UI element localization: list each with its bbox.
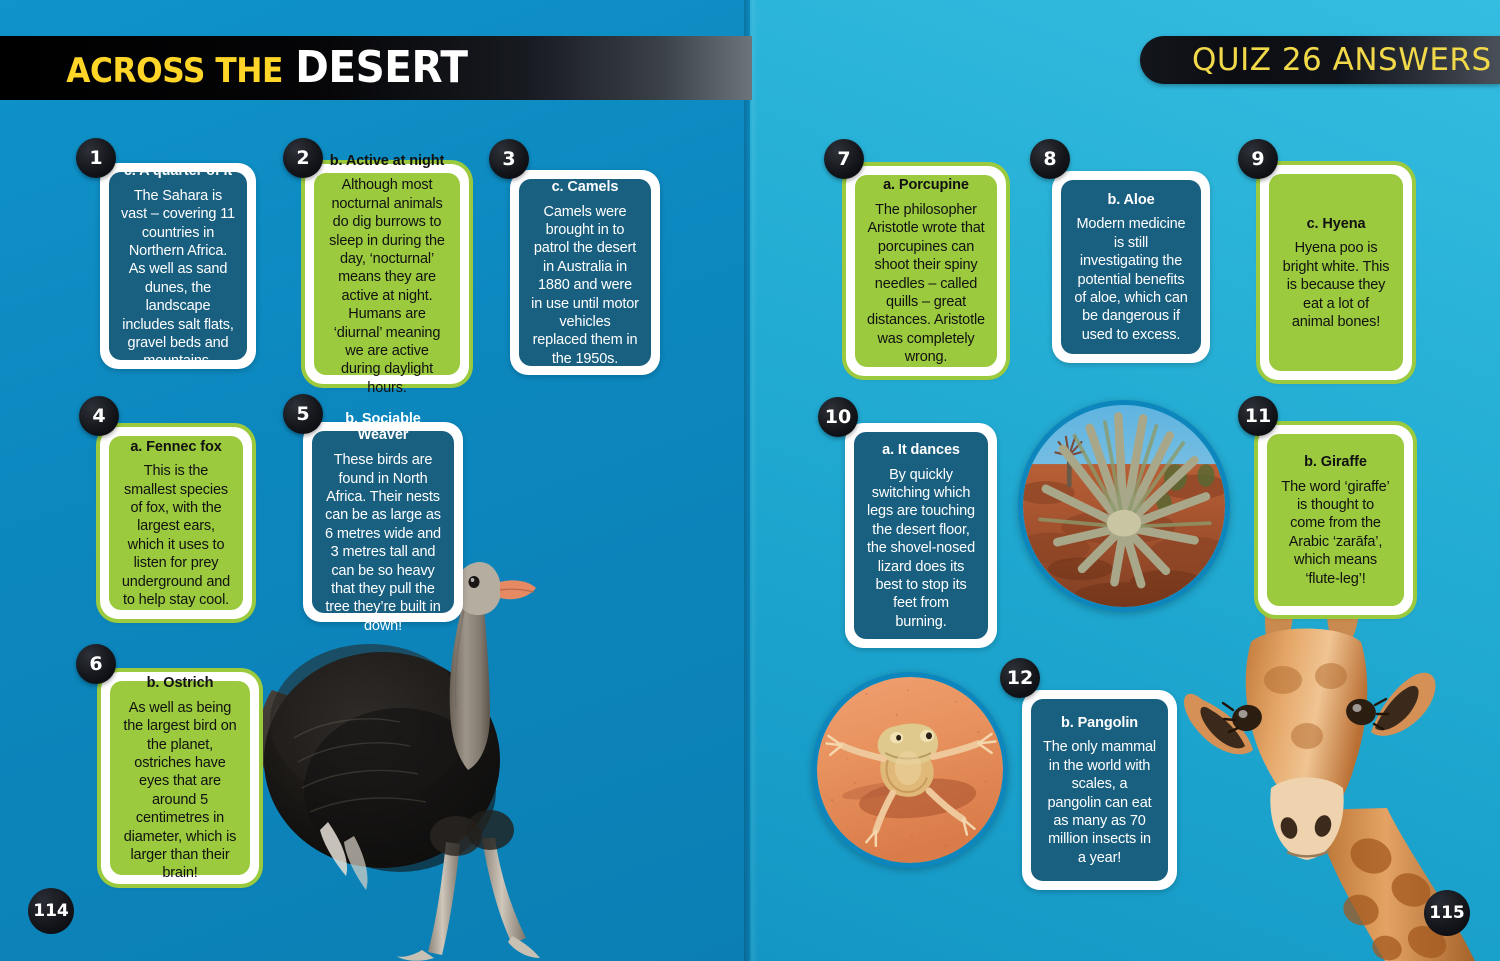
answer-card-1: c. A quarter of it The Sahara is vast – … xyxy=(100,163,256,369)
page-number-right: 115 xyxy=(1424,890,1470,936)
answer-card-3: c. Camels Camels were brought in to patr… xyxy=(510,170,660,375)
answer-body: As well as being the largest bird on the… xyxy=(122,699,238,883)
answer-body: This is the smallest species of fox, wit… xyxy=(121,462,231,609)
answer-card-8: b. Aloe Modern medicine is still investi… xyxy=(1052,171,1210,363)
answer-card-12: b. Pangolin The only mammal in the world… xyxy=(1022,690,1177,890)
answer-body: The Sahara is vast – covering 11 countri… xyxy=(121,187,235,371)
right-page-header-banner: QUIZ 26 ANSWERS xyxy=(1140,36,1500,84)
answer-label: a. It dances xyxy=(866,442,976,459)
answer-number-10: 10 xyxy=(818,397,858,437)
answer-number-3: 3 xyxy=(489,139,529,179)
answer-body: Camels were brought in to patrol the des… xyxy=(531,203,639,369)
answer-label: a. Fennec fox xyxy=(121,439,231,456)
answer-number-9: 9 xyxy=(1238,139,1278,179)
answer-label: b. Giraffe xyxy=(1279,454,1392,471)
aloe-plant-photo xyxy=(1018,400,1230,612)
page-title-part1: ACROSS THE xyxy=(66,51,283,91)
answer-body: By quickly switching which legs are touc… xyxy=(866,466,976,632)
answer-card-5: b. Sociable Weaver These birds are found… xyxy=(303,422,463,622)
page-title-part2: DESERT xyxy=(295,42,467,93)
answer-label: b. Sociable Weaver xyxy=(324,411,442,444)
answer-label: b. Ostrich xyxy=(122,675,238,692)
shovel-nosed-lizard-photo xyxy=(812,672,1008,868)
answer-number-8: 8 xyxy=(1030,139,1070,179)
page-title: ACROSS THE DESERT xyxy=(0,46,468,90)
answer-card-10: a. It dances By quickly switching which … xyxy=(845,423,997,648)
answer-label: b. Pangolin xyxy=(1043,715,1156,732)
answer-card-9: c. Hyena Hyena poo is bright white. This… xyxy=(1260,165,1412,380)
answer-card-2: b. Active at night Although most nocturn… xyxy=(305,164,469,384)
answer-body: Hyena poo is bright white. This is becau… xyxy=(1281,239,1391,331)
answer-label: c. Hyena xyxy=(1281,216,1391,233)
answer-card-11: b. Giraffe The word ‘giraffe’ is thought… xyxy=(1258,425,1413,615)
answer-label: c. A quarter of it xyxy=(121,163,235,180)
answer-body: Although most nocturnal animals do dig b… xyxy=(326,176,448,397)
answer-label: c. Camels xyxy=(531,179,639,196)
answer-body: These birds are found in North Africa. T… xyxy=(324,451,442,635)
answer-card-4: a. Fennec fox This is the smallest speci… xyxy=(100,427,252,619)
left-page-header-banner: ACROSS THE DESERT xyxy=(0,36,752,100)
answer-body: Modern medicine is still investigating t… xyxy=(1073,215,1189,344)
quiz-answers-title: QUIZ 26 ANSWERS xyxy=(1140,42,1492,78)
answer-body: The philosopher Aristotle wrote that por… xyxy=(867,201,985,367)
answer-body: The word ‘giraffe’ is thought to come fr… xyxy=(1279,478,1392,588)
answer-body: The only mammal in the world with scales… xyxy=(1043,738,1156,867)
answer-label: a. Porcupine xyxy=(867,177,985,194)
answer-card-6: b. Ostrich As well as being the largest … xyxy=(101,672,259,884)
answer-number-11: 11 xyxy=(1238,396,1278,436)
answer-card-7: a. Porcupine The philosopher Aristotle w… xyxy=(846,166,1006,376)
answer-number-12: 12 xyxy=(1000,658,1040,698)
book-spread: ACROSS THE DESERT QUIZ 26 ANSWERS xyxy=(0,0,1500,961)
answer-number-6: 6 xyxy=(76,644,116,684)
answer-number-2: 2 xyxy=(283,138,323,178)
answer-number-5: 5 xyxy=(283,394,323,434)
answer-label: b. Aloe xyxy=(1073,192,1189,209)
answer-number-7: 7 xyxy=(824,139,864,179)
answer-label: b. Active at night xyxy=(326,153,448,170)
answer-number-4: 4 xyxy=(79,396,119,436)
answer-number-1: 1 xyxy=(76,138,116,178)
page-number-left: 114 xyxy=(28,888,74,934)
